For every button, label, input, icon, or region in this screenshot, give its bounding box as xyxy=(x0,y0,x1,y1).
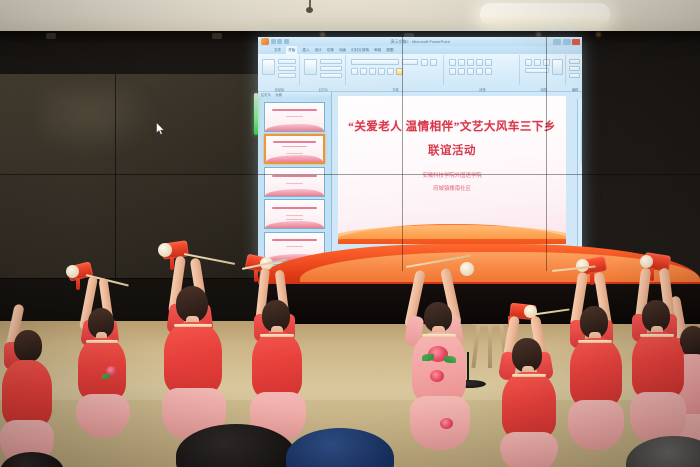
increase-font-icon[interactable] xyxy=(421,59,428,66)
ribbon-tab-slideshow[interactable]: 幻灯片放映 xyxy=(351,46,369,54)
ribbon-group-paragraph[interactable]: 段落 xyxy=(446,55,520,85)
copy-icon[interactable] xyxy=(278,66,296,71)
collar-trim xyxy=(174,324,212,327)
pane-tab-slides[interactable]: 幻灯片 xyxy=(261,92,271,99)
shape-gallery-icon[interactable] xyxy=(552,59,563,75)
maximize-button[interactable] xyxy=(563,39,571,45)
drum-head xyxy=(460,262,474,276)
slide-thumbnail-3[interactable]: 3 xyxy=(264,167,325,197)
torso-costume xyxy=(412,332,466,402)
decrease-indent-icon[interactable] xyxy=(467,59,474,66)
ribbon-tab-home[interactable]: 开始 xyxy=(286,46,297,54)
redo-icon[interactable] xyxy=(284,39,289,44)
embroidered-leaf xyxy=(422,354,434,361)
powerpoint-window[interactable]: 演示文稿2 - Microsoft PowerPoint 文件 开始 插入 设计… xyxy=(258,37,582,271)
torso-costume xyxy=(502,372,556,438)
performer-2 xyxy=(140,240,260,450)
embroidered-flower xyxy=(430,370,444,382)
torso-costume xyxy=(2,360,52,426)
italic-icon[interactable] xyxy=(360,68,367,75)
shape-fill-icon[interactable] xyxy=(525,68,549,73)
embroidered-leaf xyxy=(102,374,110,379)
drum-head xyxy=(158,243,172,257)
head xyxy=(14,330,42,362)
font-size-combo[interactable] xyxy=(402,59,418,65)
legs xyxy=(500,432,558,467)
ribbon-group-editing[interactable]: 编辑 xyxy=(568,55,582,85)
drum-tassel xyxy=(76,278,80,290)
ribbon-tab-review[interactable]: 审阅 xyxy=(374,46,381,54)
performer-5 xyxy=(480,290,590,467)
ceiling-light-fixture xyxy=(480,3,610,25)
mouse-cursor-icon xyxy=(156,122,165,136)
ribbon-tab-transitions[interactable]: 切换 xyxy=(327,46,334,54)
slide-subtitle-line2[interactable]: 府城镇楼南社区 xyxy=(338,184,566,192)
numbering-icon[interactable] xyxy=(458,59,465,66)
window-title-bar[interactable]: 演示文稿2 - Microsoft PowerPoint xyxy=(258,37,582,46)
wall-seam xyxy=(115,74,116,278)
bullets-icon[interactable] xyxy=(449,59,456,66)
align-left-icon[interactable] xyxy=(449,68,456,75)
strikethrough-icon[interactable] xyxy=(387,68,394,75)
underline-icon[interactable] xyxy=(369,68,376,75)
collar-trim xyxy=(512,374,546,377)
decrease-font-icon[interactable] xyxy=(430,59,437,66)
led-indicator-strip xyxy=(254,93,258,135)
minimize-button[interactable] xyxy=(553,39,561,45)
embroidered-flower xyxy=(440,418,453,429)
ribbon-group-slides[interactable]: 幻灯片 xyxy=(302,55,346,85)
legs xyxy=(76,394,130,438)
layout-icon[interactable] xyxy=(320,59,342,64)
ribbon[interactable]: 剪贴板 幻灯片 字体 xyxy=(258,54,582,92)
line-spacing-icon[interactable] xyxy=(485,59,492,66)
new-slide-icon[interactable] xyxy=(304,59,317,75)
collar-trim xyxy=(260,334,294,337)
shape-ellipse-icon[interactable] xyxy=(534,59,541,66)
shadow-icon[interactable] xyxy=(378,68,385,75)
window-controls[interactable] xyxy=(553,39,580,45)
drum-head xyxy=(66,265,79,278)
ribbon-tab-view[interactable]: 视图 xyxy=(386,46,393,54)
ribbon-tab-design[interactable]: 设计 xyxy=(315,46,322,54)
ribbon-tab-file[interactable]: 文件 xyxy=(274,46,281,54)
slide-ribbon-decoration xyxy=(338,218,566,244)
window-title: 演示文稿2 - Microsoft PowerPoint xyxy=(390,37,450,46)
section-icon[interactable] xyxy=(320,73,342,78)
quick-access-toolbar[interactable] xyxy=(261,38,289,45)
photo-scene: 演示文稿2 - Microsoft PowerPoint 文件 开始 插入 设计… xyxy=(0,0,700,467)
select-icon[interactable] xyxy=(569,73,580,78)
shape-arrow-icon[interactable] xyxy=(543,59,550,66)
slide-title-line2[interactable]: 联谊活动 xyxy=(338,142,566,158)
slide-thumbnail-4[interactable]: 4 xyxy=(264,199,325,229)
embroidered-leaf xyxy=(444,356,456,363)
ribbon-tab-bar[interactable]: 文件 开始 插入 设计 切换 动画 幻灯片放映 审阅 视图 xyxy=(258,46,582,54)
ribbon-tab-animations[interactable]: 动画 xyxy=(339,46,346,54)
find-icon[interactable] xyxy=(569,59,580,64)
ribbon-tab-insert[interactable]: 插入 xyxy=(302,46,309,54)
font-color-icon[interactable] xyxy=(396,68,403,75)
bold-icon[interactable] xyxy=(351,68,358,75)
slide-scrollbar[interactable] xyxy=(577,99,582,264)
shape-rect-icon[interactable] xyxy=(525,59,532,66)
font-name-combo[interactable] xyxy=(351,59,399,65)
collar-trim xyxy=(422,334,456,337)
slide-thumbnail-1[interactable]: 1 xyxy=(264,102,325,132)
cut-icon[interactable] xyxy=(278,59,296,64)
ribbon-group-font[interactable]: 字体 xyxy=(348,55,444,85)
reset-icon[interactable] xyxy=(320,66,342,71)
slide-title-line1[interactable]: “关爱老人 温情相伴”文艺大风车三下乡 xyxy=(338,118,566,134)
pane-tab-outline[interactable]: 大纲 xyxy=(275,92,282,99)
save-icon[interactable] xyxy=(271,39,276,44)
justify-icon[interactable] xyxy=(476,68,483,75)
slide-thumbnail-pane[interactable]: 幻灯片 大纲 1 2 3 xyxy=(258,92,332,271)
ribbon-group-clipboard[interactable]: 剪贴板 xyxy=(260,55,300,85)
drum-tassel xyxy=(590,272,594,285)
collar-trim xyxy=(86,340,118,343)
torso-costume xyxy=(78,338,126,400)
ribbon-group-drawing[interactable]: 绘图 xyxy=(522,55,566,85)
current-slide[interactable]: “关爱老人 温情相伴”文艺大风车三下乡 联谊活动 安徽科技学院外国语学院 府城镇… xyxy=(338,96,566,244)
replace-icon[interactable] xyxy=(569,66,580,71)
paste-icon[interactable] xyxy=(262,59,275,75)
increase-indent-icon[interactable] xyxy=(476,59,483,66)
wall-smudge xyxy=(40,86,160,156)
close-button[interactable] xyxy=(572,39,580,45)
pane-tab-bar[interactable]: 幻灯片 大纲 xyxy=(258,92,331,99)
align-center-icon[interactable] xyxy=(458,68,465,75)
format-painter-icon[interactable] xyxy=(278,73,296,78)
fire-sprinkler-icon xyxy=(306,0,313,14)
office-button-icon[interactable] xyxy=(261,38,269,45)
align-right-icon[interactable] xyxy=(467,68,474,75)
slide-subtitle-line1[interactable]: 安徽科技学院外国语学院 xyxy=(338,171,566,179)
columns-icon[interactable] xyxy=(485,68,492,75)
undo-icon[interactable] xyxy=(277,39,282,44)
slide-thumbnail-2[interactable]: 2 xyxy=(264,134,325,164)
torso-costume xyxy=(164,322,222,394)
